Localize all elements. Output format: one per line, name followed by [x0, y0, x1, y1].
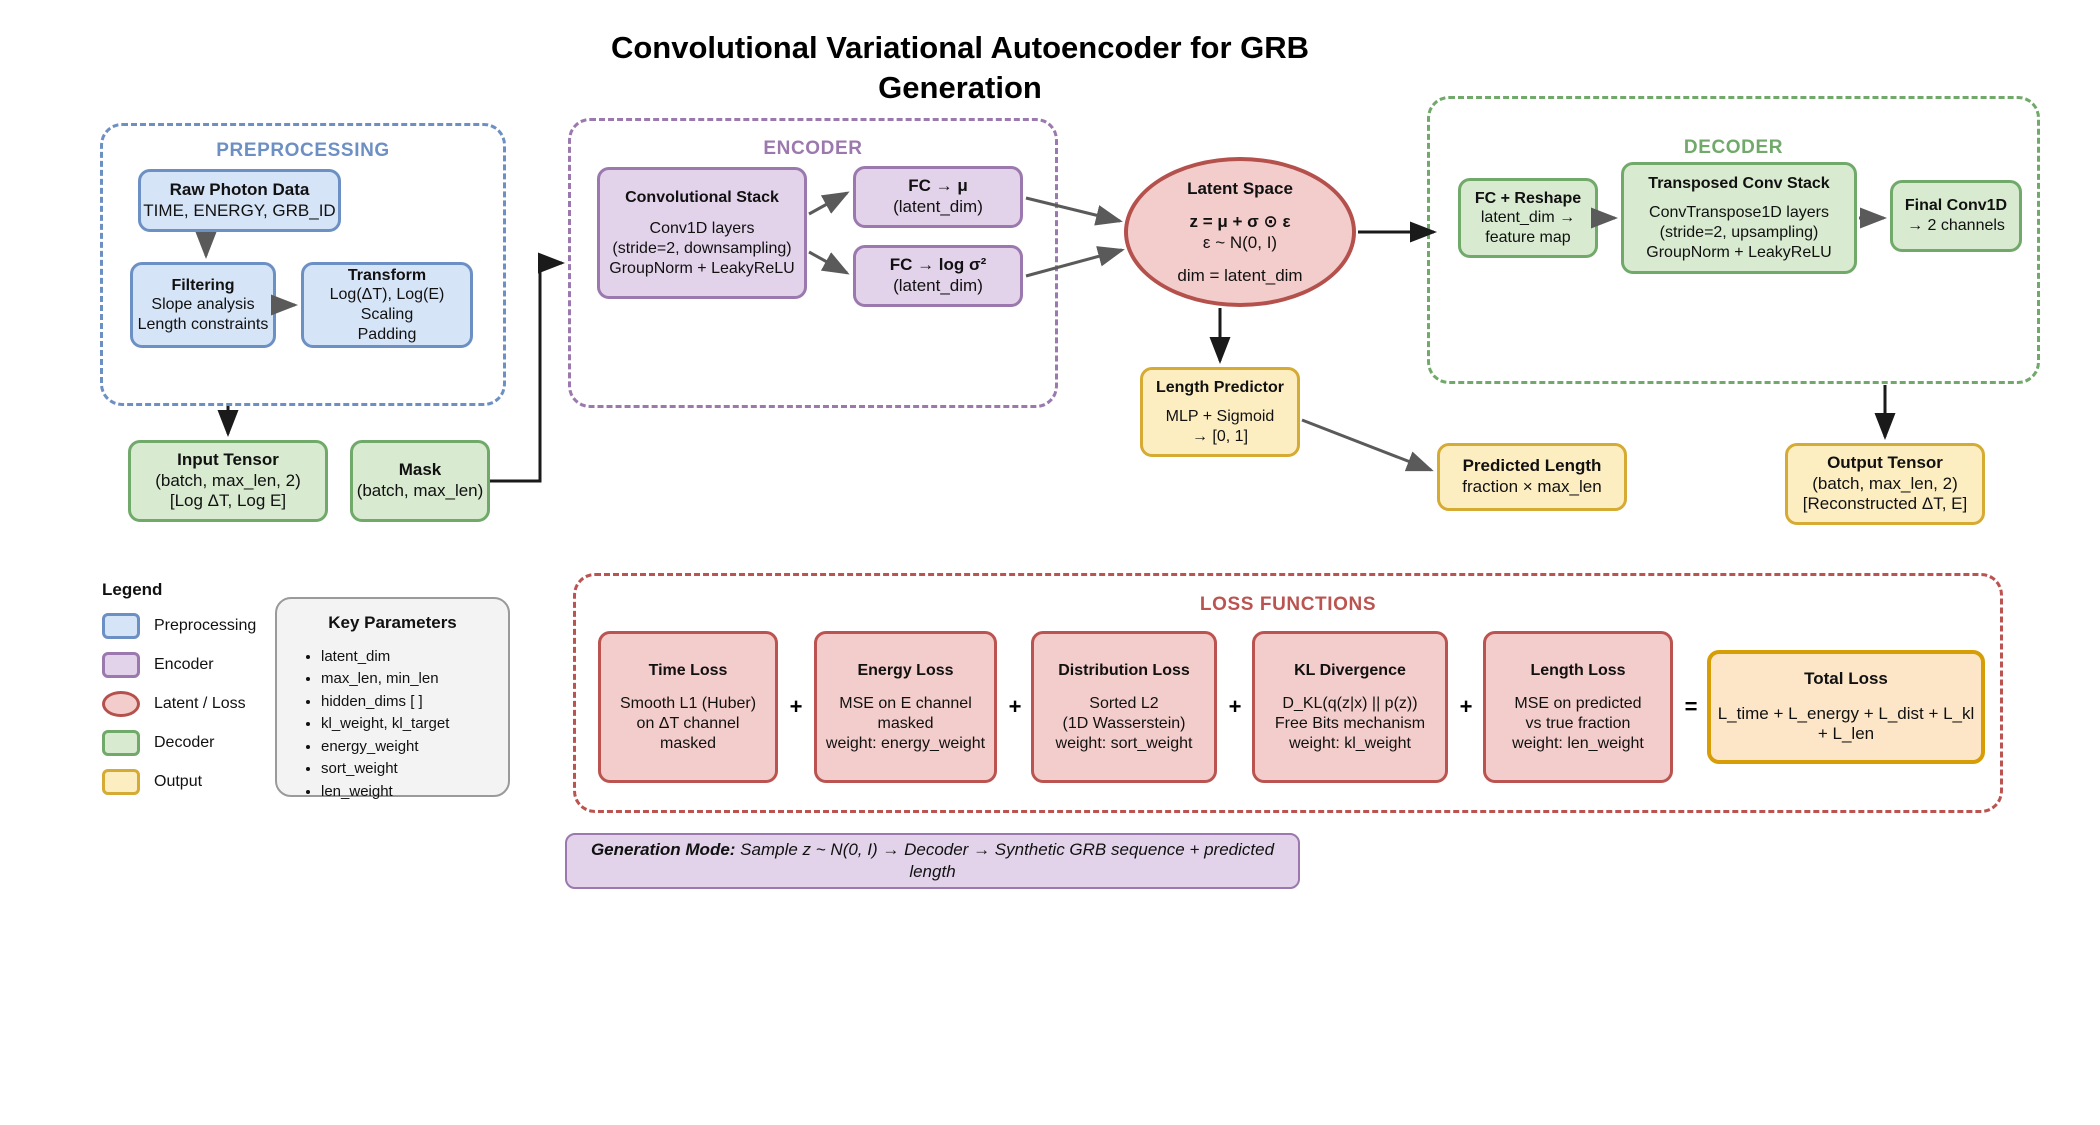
legend-item-latent-loss: Latent / Loss: [102, 691, 246, 717]
node-kl-divergence-loss[interactable]: KL Divergence D_KL(q(z|x) || p(z)) Free …: [1252, 631, 1448, 783]
node-transposed-conv-stack-title: Transposed Conv Stack: [1648, 174, 1829, 194]
key-parameters-box: Key Parameters latent_dim max_len, min_l…: [275, 597, 510, 797]
node-total-loss[interactable]: Total Loss L_time + L_energy + L_dist + …: [1707, 650, 1985, 764]
legend-item-decoder: Decoder: [102, 730, 214, 756]
group-loss-title: LOSS FUNCTIONS: [576, 594, 2000, 616]
node-predicted-length[interactable]: Predicted Length fraction × max_len: [1437, 443, 1627, 511]
legend-item-output: Output: [102, 769, 202, 795]
node-convolutional-stack-title: Convolutional Stack: [625, 188, 779, 208]
legend-label-output: Output: [154, 773, 202, 791]
key-parameter-item: hidden_dims [ ]: [321, 691, 498, 714]
node-fc-logvar-sub: (latent_dim): [893, 276, 983, 297]
node-transform[interactable]: Transform Log(ΔT), Log(E) Scaling Paddin…: [301, 262, 473, 348]
node-fc-mu-title: FC → μ: [908, 176, 968, 197]
generation-mode-text: Sample z ~ N(0, I) → Decoder → Synthetic…: [735, 840, 1274, 881]
node-total-loss-sub: L_time + L_energy + L_dist + L_kl + L_le…: [1718, 704, 1975, 745]
node-total-loss-title: Total Loss: [1804, 669, 1888, 690]
generation-mode-box: Generation Mode: Sample z ~ N(0, I) → De…: [565, 833, 1300, 889]
node-output-tensor[interactable]: Output Tensor (batch, max_len, 2) [Recon…: [1785, 443, 1985, 525]
node-kl-divergence-loss-title: KL Divergence: [1294, 661, 1406, 681]
diagram-canvas: Convolutional Variational Autoencoder fo…: [0, 0, 2100, 1125]
node-energy-loss[interactable]: Energy Loss MSE on E channel masked weig…: [814, 631, 997, 783]
node-mask-sub: (batch, max_len): [357, 481, 484, 502]
node-length-loss-title: Length Loss: [1530, 661, 1625, 681]
node-final-conv1d-sub: → 2 channels: [1907, 216, 2005, 236]
node-fc-logvar[interactable]: FC → log σ² (latent_dim): [853, 245, 1023, 307]
node-distribution-loss-title: Distribution Loss: [1058, 661, 1190, 681]
page-title: Convolutional Variational Autoencoder fo…: [560, 28, 1360, 107]
node-raw-photon-data-sub: TIME, ENERGY, GRB_ID: [143, 201, 335, 222]
key-parameter-item: len_weight: [321, 781, 498, 804]
node-convolutional-stack[interactable]: Convolutional Stack Conv1D layers (strid…: [597, 167, 807, 299]
node-predicted-length-sub: fraction × max_len: [1462, 477, 1601, 498]
legend-label-encoder: Encoder: [154, 656, 214, 674]
group-encoder-title: ENCODER: [571, 138, 1055, 160]
node-fc-logvar-title: FC → log σ²: [890, 255, 987, 276]
key-parameters-title: Key Parameters: [287, 613, 498, 634]
node-fc-mu-sub: (latent_dim): [893, 197, 983, 218]
node-length-predictor-sub: MLP + Sigmoid → [0, 1]: [1166, 407, 1275, 446]
node-final-conv1d[interactable]: Final Conv1D → 2 channels: [1890, 180, 2022, 252]
legend-label-latent-loss: Latent / Loss: [154, 695, 246, 713]
node-latent-space-eq: z = μ + σ ⊙ ε: [1189, 211, 1290, 232]
loss-operator-2: +: [997, 631, 1033, 783]
key-parameter-item: latent_dim: [321, 646, 498, 669]
node-fc-mu[interactable]: FC → μ (latent_dim): [853, 166, 1023, 228]
node-distribution-loss[interactable]: Distribution Loss Sorted L2 (1D Wasserst…: [1031, 631, 1217, 783]
node-fc-reshape-sub: latent_dim → feature map: [1481, 208, 1575, 247]
node-convolutional-stack-sub: Conv1D layers (stride=2, downsampling) G…: [609, 219, 794, 278]
group-decoder-title: DECODER: [1430, 137, 2037, 159]
node-energy-loss-sub: MSE on E channel masked weight: energy_w…: [826, 694, 985, 753]
node-length-predictor-title: Length Predictor: [1156, 378, 1284, 398]
node-predicted-length-title: Predicted Length: [1463, 456, 1602, 477]
node-time-loss-sub: Smooth L1 (Huber) on ΔT channel masked: [620, 694, 756, 753]
node-final-conv1d-title: Final Conv1D: [1905, 196, 2007, 216]
key-parameters-list: latent_dim max_len, min_len hidden_dims …: [287, 646, 498, 804]
loss-operator-5: =: [1673, 631, 1709, 783]
node-raw-photon-data[interactable]: Raw Photon Data TIME, ENERGY, GRB_ID: [138, 169, 341, 232]
node-length-predictor[interactable]: Length Predictor MLP + Sigmoid → [0, 1]: [1140, 367, 1300, 457]
node-input-tensor-sub: (batch, max_len, 2) [Log ΔT, Log E]: [155, 471, 301, 512]
node-input-tensor[interactable]: Input Tensor (batch, max_len, 2) [Log ΔT…: [128, 440, 328, 522]
legend-title: Legend: [102, 580, 162, 600]
node-filtering[interactable]: Filtering Slope analysis Length constrai…: [130, 262, 276, 348]
node-fc-reshape[interactable]: FC + Reshape latent_dim → feature map: [1458, 178, 1598, 258]
node-transform-title: Transform: [348, 266, 426, 286]
loss-operator-1: +: [778, 631, 814, 783]
key-parameter-item: kl_weight, kl_target: [321, 713, 498, 736]
node-filtering-title: Filtering: [171, 276, 234, 296]
arrow-lengthpredictor-to-predictedlength: [1302, 420, 1431, 470]
legend-swatch-preprocessing: [102, 613, 140, 639]
loss-operator-3: +: [1217, 631, 1253, 783]
node-mask-title: Mask: [399, 460, 442, 481]
node-latent-space-noise: ε ~ N(0, I): [1203, 232, 1277, 253]
node-time-loss-title: Time Loss: [649, 661, 728, 681]
node-output-tensor-title: Output Tensor: [1827, 453, 1943, 474]
node-latent-space-dim: dim = latent_dim: [1177, 265, 1302, 286]
key-parameter-item: energy_weight: [321, 736, 498, 759]
legend-swatch-encoder: [102, 652, 140, 678]
node-transposed-conv-stack-sub: ConvTranspose1D layers (stride=2, upsamp…: [1646, 203, 1831, 262]
legend-swatch-decoder: [102, 730, 140, 756]
node-time-loss[interactable]: Time Loss Smooth L1 (Huber) on ΔT channe…: [598, 631, 778, 783]
key-parameter-item: max_len, min_len: [321, 668, 498, 691]
node-transform-sub: Log(ΔT), Log(E) Scaling Padding: [330, 285, 445, 344]
node-output-tensor-sub: (batch, max_len, 2) [Reconstructed ΔT, E…: [1803, 474, 1967, 515]
node-distribution-loss-sub: Sorted L2 (1D Wasserstein) weight: sort_…: [1056, 694, 1193, 753]
loss-operator-4: +: [1448, 631, 1484, 783]
node-latent-space-title: Latent Space: [1187, 178, 1293, 199]
legend-item-encoder: Encoder: [102, 652, 214, 678]
node-length-loss-sub: MSE on predicted vs true fraction weight…: [1512, 694, 1644, 753]
legend-label-decoder: Decoder: [154, 734, 214, 752]
node-energy-loss-title: Energy Loss: [857, 661, 953, 681]
generation-mode-label: Generation Mode:: [591, 840, 736, 859]
node-raw-photon-data-title: Raw Photon Data: [170, 180, 310, 201]
node-kl-divergence-loss-sub: D_KL(q(z|x) || p(z)) Free Bits mechanism…: [1275, 694, 1425, 753]
node-input-tensor-title: Input Tensor: [177, 450, 279, 471]
node-length-loss[interactable]: Length Loss MSE on predicted vs true fra…: [1483, 631, 1673, 783]
node-transposed-conv-stack[interactable]: Transposed Conv Stack ConvTranspose1D la…: [1621, 162, 1857, 274]
legend-swatch-latent-loss: [102, 691, 140, 717]
node-fc-reshape-title: FC + Reshape: [1475, 189, 1581, 209]
group-preprocessing-title: PREPROCESSING: [103, 140, 503, 162]
legend-item-preprocessing: Preprocessing: [102, 613, 256, 639]
legend-swatch-output: [102, 769, 140, 795]
node-filtering-sub: Slope analysis Length constraints: [138, 295, 269, 334]
node-latent-space[interactable]: Latent Space z = μ + σ ⊙ ε ε ~ N(0, I) d…: [1124, 157, 1356, 307]
node-mask[interactable]: Mask (batch, max_len): [350, 440, 490, 522]
legend-label-preprocessing: Preprocessing: [154, 617, 256, 635]
key-parameter-item: sort_weight: [321, 758, 498, 781]
